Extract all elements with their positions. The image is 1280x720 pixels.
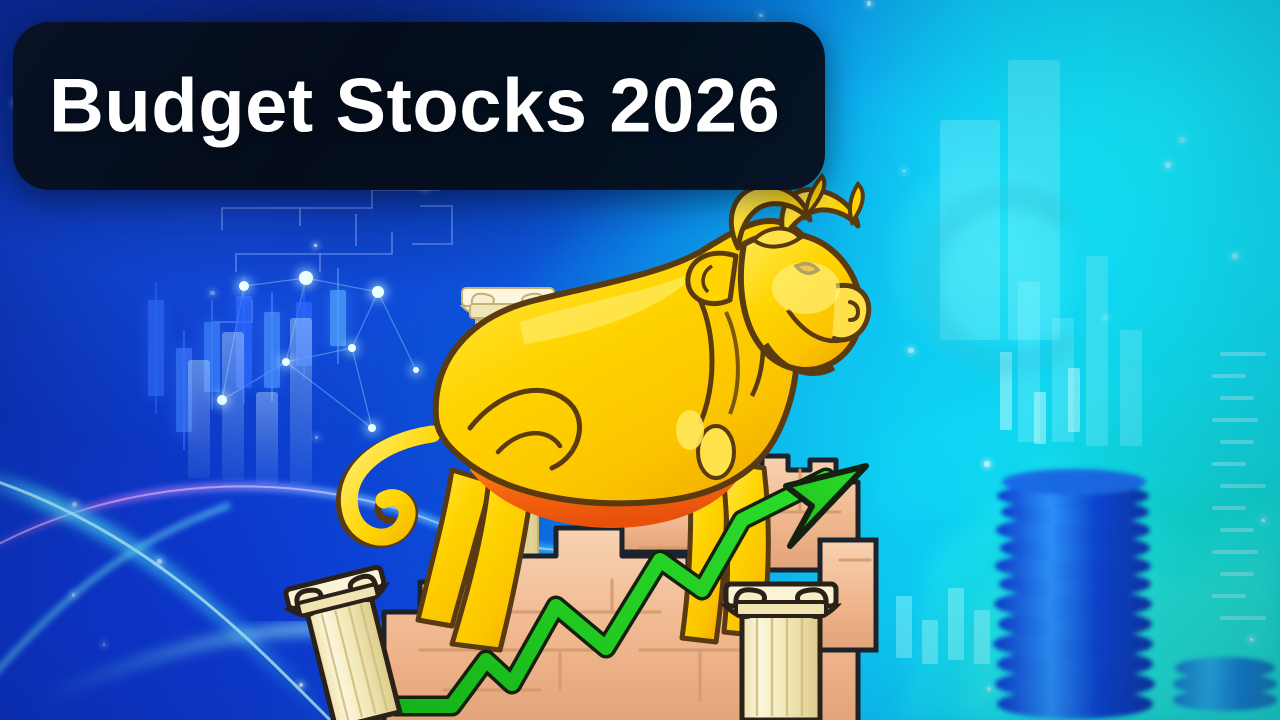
page-title: Budget Stocks 2026 <box>49 63 780 150</box>
poster-canvas: Budget Stocks 2026 <box>0 0 1280 720</box>
title-banner: Budget Stocks 2026 <box>13 22 825 190</box>
column-right-front <box>726 584 836 720</box>
